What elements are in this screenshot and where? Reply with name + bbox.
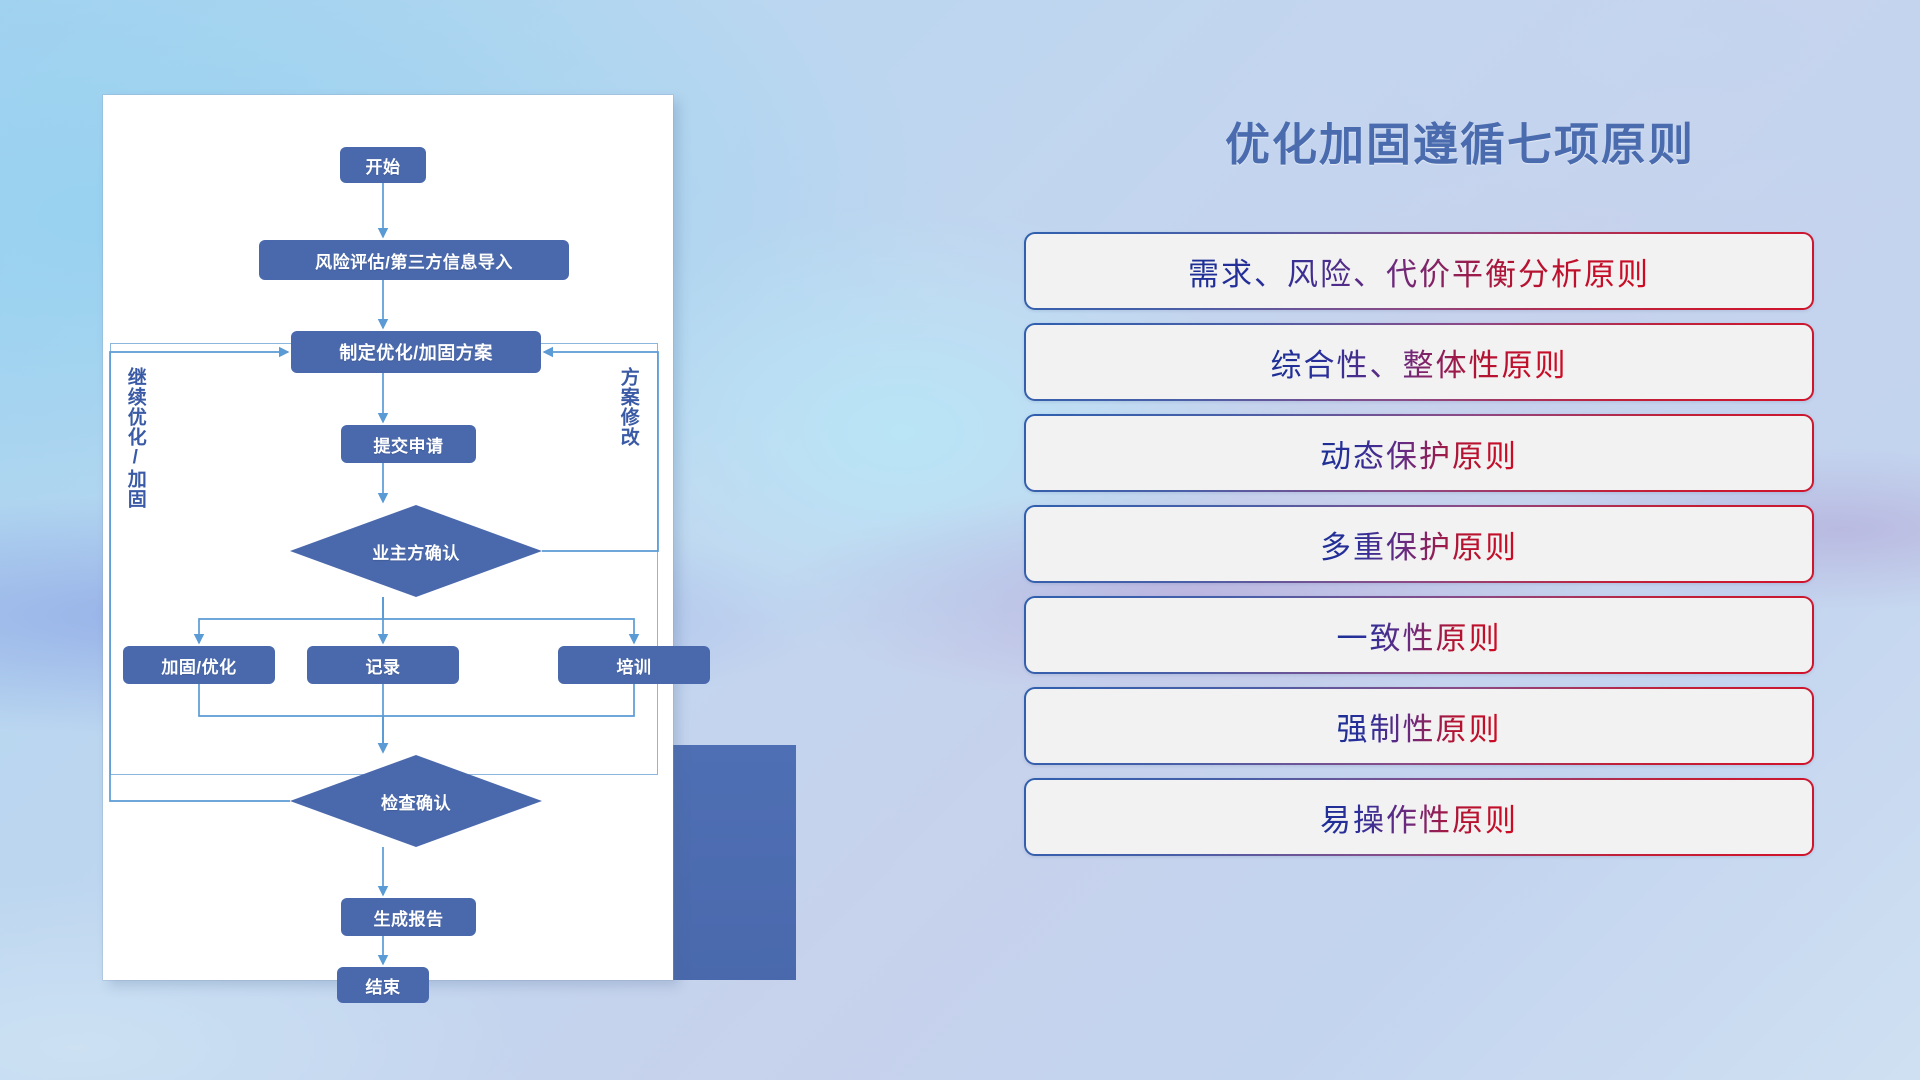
flowchart-card: 开始 风险评估/第三方信息导入 制定优化/加固方案 提交申请 业主方确认 加固/… — [103, 95, 673, 980]
flow-node-plan[interactable]: 制定优化/加固方案 — [291, 331, 541, 373]
principle-label: 强制性原则 — [1337, 704, 1502, 749]
flow-node-label: 记录 — [366, 653, 401, 678]
flow-node-label: 生成报告 — [374, 905, 444, 930]
edge-label-continue-optimize: 继续优化/加固 — [125, 367, 145, 509]
flow-node-owner-confirm[interactable]: 业主方确认 — [290, 505, 542, 597]
principle-item-3[interactable]: 动态保护原则 — [1024, 414, 1814, 492]
principle-label: 一致性原则 — [1337, 613, 1502, 658]
principle-item-body: 综合性、整体性原则 — [1026, 325, 1812, 399]
principle-list: 需求、风险、代价平衡分析原则 综合性、整体性原则 动态保护原则 多重保护原则 一… — [1024, 232, 1814, 869]
principle-item-body: 易操作性原则 — [1026, 780, 1812, 854]
left-panel: 开始 风险评估/第三方信息导入 制定优化/加固方案 提交申请 业主方确认 加固/… — [0, 0, 840, 1080]
principle-item-5[interactable]: 一致性原则 — [1024, 596, 1814, 674]
principle-label: 需求、风险、代价平衡分析原则 — [1188, 249, 1650, 294]
flow-node-label: 制定优化/加固方案 — [339, 339, 493, 365]
principle-item-4[interactable]: 多重保护原则 — [1024, 505, 1814, 583]
principle-item-6[interactable]: 强制性原则 — [1024, 687, 1814, 765]
flow-node-check-confirm[interactable]: 检查确认 — [290, 755, 542, 847]
principle-label: 易操作性原则 — [1320, 795, 1518, 840]
flow-node-start[interactable]: 开始 — [340, 147, 426, 183]
flow-node-label: 开始 — [366, 153, 401, 178]
flow-node-label: 风险评估/第三方信息导入 — [315, 248, 513, 273]
principle-item-body: 动态保护原则 — [1026, 416, 1812, 490]
principle-label: 综合性、整体性原则 — [1271, 340, 1568, 385]
principle-item-body: 需求、风险、代价平衡分析原则 — [1026, 234, 1812, 308]
flow-node-label: 提交申请 — [374, 432, 444, 457]
flow-node-reinforce[interactable]: 加固/优化 — [123, 646, 275, 684]
flowchart-canvas: 开始 风险评估/第三方信息导入 制定优化/加固方案 提交申请 业主方确认 加固/… — [103, 95, 673, 980]
flow-node-training[interactable]: 培训 — [558, 646, 710, 684]
principle-item-body: 多重保护原则 — [1026, 507, 1812, 581]
right-panel: 优化加固遵循七项原则 需求、风险、代价平衡分析原则 综合性、整体性原则 动态保护… — [1000, 0, 1920, 1080]
diamond-shape — [290, 755, 542, 847]
principle-item-body: 一致性原则 — [1026, 598, 1812, 672]
flow-node-label: 加固/优化 — [161, 653, 236, 678]
principle-item-body: 强制性原则 — [1026, 689, 1812, 763]
principle-label: 多重保护原则 — [1320, 522, 1518, 567]
flow-node-end[interactable]: 结束 — [337, 967, 429, 1003]
diamond-shape — [290, 505, 542, 597]
principle-label: 动态保护原则 — [1320, 431, 1518, 476]
flow-node-risk-assessment[interactable]: 风险评估/第三方信息导入 — [259, 240, 569, 280]
principle-item-7[interactable]: 易操作性原则 — [1024, 778, 1814, 856]
flow-node-label: 结束 — [366, 973, 401, 998]
page-title: 优化加固遵循七项原则 — [1000, 108, 1920, 173]
edge-label-plan-revision: 方案修改 — [618, 367, 638, 447]
flow-node-record[interactable]: 记录 — [307, 646, 459, 684]
principle-item-2[interactable]: 综合性、整体性原则 — [1024, 323, 1814, 401]
flow-node-submit-application[interactable]: 提交申请 — [341, 425, 476, 463]
flow-node-label: 培训 — [617, 653, 652, 678]
flow-node-generate-report[interactable]: 生成报告 — [341, 898, 476, 936]
principle-item-1[interactable]: 需求、风险、代价平衡分析原则 — [1024, 232, 1814, 310]
